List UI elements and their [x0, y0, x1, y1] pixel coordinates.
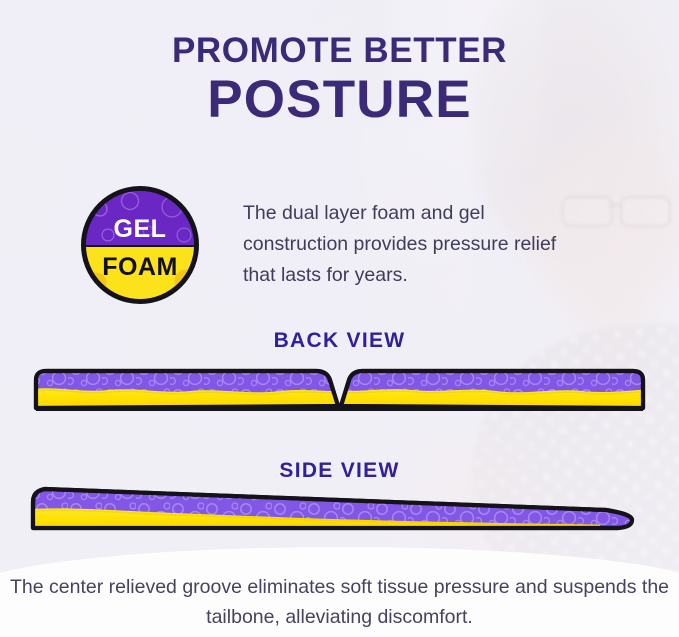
- page-title: PROMOTE BETTER POSTURE: [0, 33, 679, 127]
- badge-gel-label: GEL: [86, 215, 194, 244]
- side-view-diagram: [0, 476, 679, 546]
- background-eyeglasses: [562, 196, 679, 226]
- bottom-caption: The center relieved groove eliminates so…: [0, 573, 679, 632]
- title-line-secondary: POSTURE: [0, 72, 679, 127]
- back-view-left-pad: [30, 368, 348, 412]
- intro-paragraph: The dual layer foam and gel construction…: [243, 198, 573, 290]
- gel-foam-badge: GEL FOAM: [81, 186, 199, 304]
- side-view-wedge: [28, 484, 643, 534]
- back-view-diagram: [0, 362, 679, 424]
- back-view-label: BACK VIEW: [0, 329, 679, 353]
- back-view-right-pad: [334, 368, 650, 412]
- back-view-base-line: [36, 406, 643, 411]
- title-line-primary: PROMOTE BETTER: [0, 33, 679, 68]
- badge-foam-label: FOAM: [86, 253, 194, 282]
- infographic-canvas: PROMOTE BETTER POSTURE GEL FOAM The dual…: [0, 0, 679, 637]
